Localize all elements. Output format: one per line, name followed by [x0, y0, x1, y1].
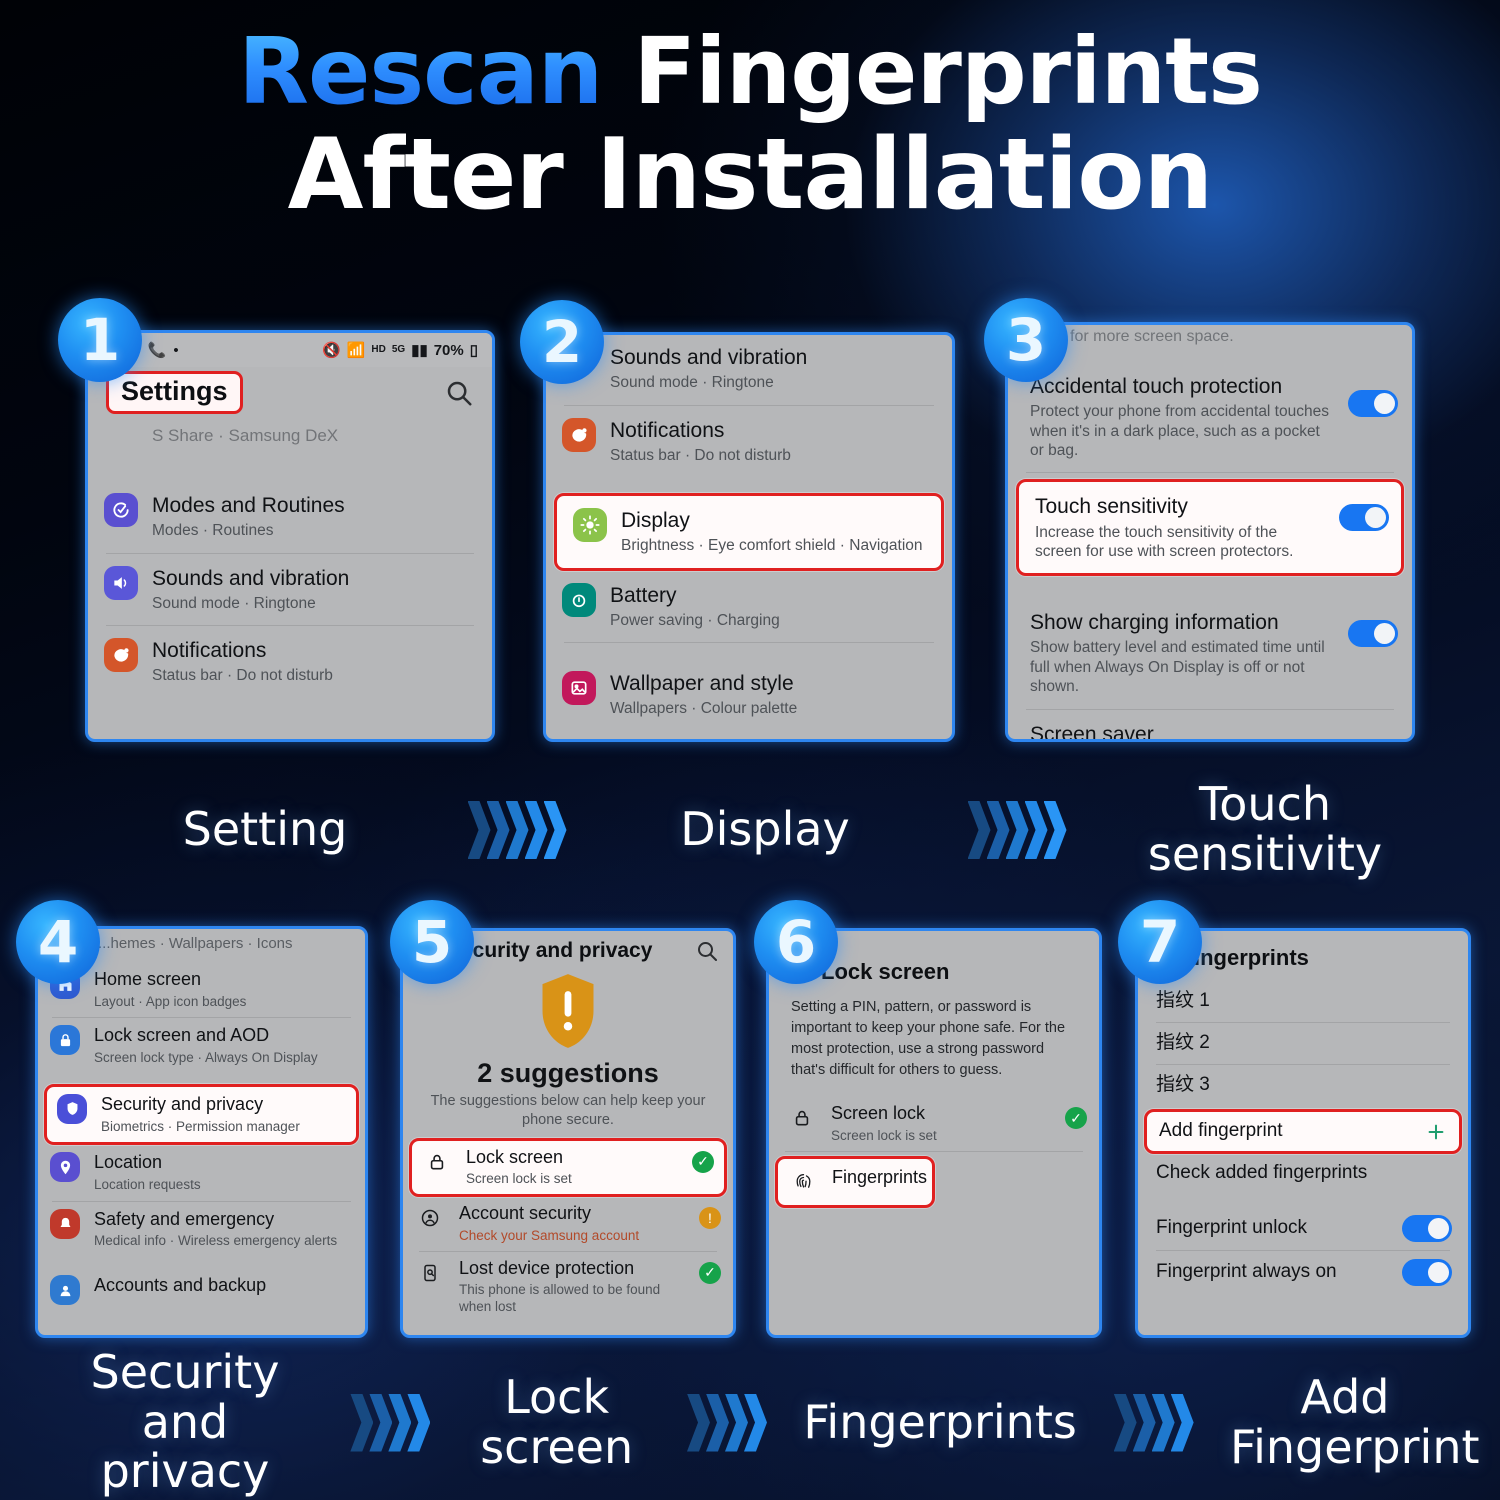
lock-screen-description: Setting a PIN, pattern, or password is i… [769, 991, 1099, 1081]
flow-arrow-4 [687, 1394, 763, 1452]
list-item-title: Home screen [94, 969, 353, 991]
list-item[interactable]: Account security Check your Samsung acco… [403, 1197, 733, 1250]
flow-arrow-1 [468, 801, 563, 859]
list-item-title: 指纹 2 [1156, 1032, 1450, 1055]
flow-label-lock-screen: Lockscreen [467, 1373, 647, 1472]
list-item-subtitle: Power saving · Charging [610, 611, 936, 630]
toggle-touch-sensitivity[interactable] [1339, 504, 1389, 531]
list-item-security-and-privacy-highlighted[interactable]: Security and privacy Biometrics · Permis… [44, 1084, 359, 1145]
padlock-outline-icon [787, 1103, 817, 1133]
battery-settings-icon [562, 583, 596, 617]
list-item-title: Lock screen [466, 1147, 678, 1169]
panel-step-1: 🖼 ⊗ 📞 • 🔇 📶 HD 5G ▮▮ 70% ▯ Settings [85, 330, 495, 742]
sound-icon [104, 566, 138, 600]
safety-icon [50, 1209, 80, 1239]
infographic-root: Rescan Fingerprints After Installation 1… [0, 0, 1500, 1500]
row-cut-off: S Share · Samsung DeX [88, 422, 492, 465]
toggle-show-charging-information[interactable] [1348, 620, 1398, 647]
list-item-subtitle: Increase the touch sensitivity of the sc… [1035, 523, 1325, 562]
notifications-icon [104, 638, 138, 672]
display-icon [573, 508, 607, 542]
list-item[interactable]: Notifications Status bar · Do not distur… [88, 626, 492, 698]
status-right-icons: 🔇 📶 HD 5G ▮▮ 70% ▯ [322, 343, 478, 358]
list-item-title: 指纹 3 [1156, 1074, 1450, 1097]
settings-title-highlight: Settings [106, 371, 243, 414]
call-icon: 📞 [148, 343, 167, 358]
list-item[interactable]: Check added fingerprints [1138, 1154, 1468, 1193]
cut-off-text: ...res for more screen space. [1008, 325, 1412, 346]
list-item[interactable]: Accounts and backup [38, 1271, 365, 1309]
list-item-subtitle: Biometrics · Permission manager [101, 1119, 346, 1136]
accounts-icon [50, 1275, 80, 1305]
list-item-subtitle: Screen lock is set [466, 1171, 678, 1188]
flow-arrow-5 [1114, 1394, 1190, 1452]
list-item[interactable]: Wallpaper and style Wallpapers · Colour … [546, 659, 952, 731]
list-item-title: Wallpaper and style [610, 671, 936, 696]
lock-icon [50, 1025, 80, 1055]
list-item-title: Fingerprint always on [1156, 1261, 1388, 1284]
list-item[interactable]: Fingerprint unlock [1138, 1207, 1468, 1250]
list-item-subtitle: Check your Samsung account [459, 1228, 685, 1245]
list-item-subtitle: Protect your phone from accidental touch… [1030, 402, 1334, 460]
list-item-title: Location [94, 1152, 353, 1174]
list-item-title: Add fingerprint [1159, 1120, 1411, 1143]
page-heading: ingerprints [1194, 945, 1309, 970]
dot-icon: • [173, 343, 178, 358]
panel-step-5: ecurity and privacy 2 suggestions The su… [400, 928, 736, 1338]
list-item-title: Notifications [610, 418, 936, 443]
signal-bars-icon: ▮▮ [411, 343, 428, 358]
hd-label: HD [371, 345, 385, 355]
list-item-title: Fingerprint unlock [1156, 1217, 1388, 1240]
step-badge-1: 1 [58, 298, 142, 382]
location-pin-icon [50, 1152, 80, 1182]
fingerprint-icon [788, 1167, 818, 1197]
list-item-touch-sensitivity-highlighted[interactable]: Touch sensitivity Increase the touch sen… [1016, 479, 1404, 576]
list-item-title: Show charging information [1030, 610, 1334, 635]
list-item-title: Lost device protection [459, 1258, 685, 1280]
search-icon[interactable] [444, 378, 474, 408]
settings-header: Settings [88, 367, 492, 422]
title-word-fingerprints: Fingerprints [633, 18, 1262, 125]
step-badge-3: 3 [984, 298, 1068, 382]
list-item[interactable]: 指纹 2 [1138, 1023, 1468, 1064]
list-item-title: Screen saver [1030, 722, 1396, 742]
signal-label: 5G [392, 345, 405, 355]
flow-arrow-2 [968, 801, 1063, 859]
list-item-subtitle: Show battery level and estimated time un… [1030, 638, 1334, 696]
suggestions-subtitle: The suggestions below can help keep your… [403, 1089, 733, 1130]
list-item[interactable]: Accidental touch protection Protect your… [1008, 362, 1412, 472]
suggestions-heading: 2 suggestions [403, 1058, 733, 1089]
toggle-fingerprint-unlock[interactable] [1402, 1215, 1452, 1242]
flow-row-top: Setting Display Touchsensitivity [120, 770, 1410, 890]
list-item-title: Accounts and backup [94, 1275, 353, 1297]
flow-arrow-3 [350, 1394, 426, 1452]
list-item-title: Account security [459, 1203, 685, 1225]
title-line-2: After Installation [0, 126, 1500, 224]
list-item[interactable]: Fingerprint always on [1138, 1251, 1468, 1294]
list-item[interactable]: Screen saver [1008, 710, 1412, 742]
flow-label-add-fingerprint: AddFingerprint [1230, 1373, 1460, 1472]
list-item-title: Display [621, 508, 925, 533]
list-item-title: Screen lock [831, 1103, 1051, 1125]
list-item-subtitle: Brightness · Eye comfort shield · Naviga… [621, 536, 925, 555]
list-item-title: Battery [610, 583, 936, 608]
title-word-rescan: Rescan [238, 18, 602, 125]
status-badge-check: ✓ [699, 1262, 721, 1284]
flow-label-touch-sensitivity: Touchsensitivity [1120, 780, 1410, 879]
battery-icon: ▯ [470, 343, 478, 358]
list-item-title: Accidental touch protection [1030, 374, 1334, 399]
page-heading: Lock screen [821, 959, 949, 985]
step-badge-7: 7 [1118, 900, 1202, 984]
list-item-title: Notifications [152, 638, 476, 663]
list-item-title: Check added fingerprints [1156, 1162, 1450, 1185]
list-item-add-fingerprint-highlighted[interactable]: Add fingerprint [1144, 1109, 1462, 1154]
panel-step-7: ingerprints 指纹 1 指纹 2 指纹 3 Add fingerpri… [1135, 928, 1471, 1338]
list-item[interactable]: Lost device protection This phone is all… [403, 1252, 733, 1322]
step-badge-2: 2 [520, 300, 604, 384]
notifications-icon [562, 418, 596, 452]
list-item[interactable]: 指纹 3 [1138, 1065, 1468, 1106]
list-item-title: Sounds and vibration [152, 566, 476, 591]
warning-shield-icon [534, 971, 602, 1051]
wifi-icon: 📶 [347, 343, 366, 358]
status-badge-warning: ! [699, 1207, 721, 1229]
battery-percent: 70% [434, 343, 464, 358]
padlock-outline-icon [422, 1147, 452, 1177]
flow-row-bottom: Securityand privacy Lockscreen Fingerpri… [60, 1360, 1460, 1485]
list-item-title: Lock screen and AOD [94, 1025, 353, 1047]
list-item-subtitle: Medical info · Wireless emergency alerts [94, 1233, 353, 1250]
list-item-title: Safety and emergency [94, 1209, 353, 1231]
list-item-subtitle: Status bar · Do not disturb [610, 446, 936, 465]
step-badge-4: 4 [16, 900, 100, 984]
find-device-icon [415, 1258, 445, 1288]
list-item[interactable]: Show charging information Show battery l… [1008, 598, 1412, 708]
flow-label-security-and-privacy: Securityand privacy [60, 1348, 310, 1497]
list-item[interactable]: Sounds and vibration Sound mode · Ringto… [88, 554, 492, 626]
modes-icon [104, 493, 138, 527]
divider [785, 1151, 1083, 1152]
list-item-lock-screen-highlighted[interactable]: Lock screen Screen lock is set ✓ [409, 1138, 727, 1197]
list-item-subtitle: Modes · Routines [152, 521, 476, 540]
list-item-subtitle: Screen lock type · Always On Display [94, 1050, 353, 1067]
list-item[interactable]: Location Location requests [38, 1145, 365, 1200]
list-item-subtitle: Location requests [94, 1177, 353, 1194]
list-item[interactable]: Notifications Status bar · Do not distur… [546, 406, 952, 478]
flow-label-setting: Setting [120, 805, 410, 855]
page-title: Rescan Fingerprints After Installation [0, 26, 1500, 224]
list-item-title: 指纹 1 [1156, 990, 1450, 1013]
list-item-title: Fingerprints [832, 1167, 922, 1189]
list-item-fingerprints-highlighted[interactable]: Fingerprints [775, 1156, 935, 1208]
panel-step-6: Lock screen Setting a PIN, pattern, or p… [766, 928, 1102, 1338]
list-item-title: Security and privacy [101, 1094, 346, 1116]
toggle-fingerprint-always-on[interactable] [1402, 1259, 1452, 1286]
list-item-title: Sounds and vibration [610, 345, 936, 370]
status-badge-check: ✓ [1065, 1107, 1087, 1129]
list-item[interactable]: Screen lock Screen lock is set ✓ [769, 1097, 1099, 1150]
cut-row-subtitle: S Share · Samsung DeX [152, 425, 476, 446]
list-item-subtitle: Wallpapers · Colour palette [610, 699, 936, 718]
status-badge-check: ✓ [692, 1151, 714, 1173]
page-heading: Settings [121, 376, 228, 406]
list-item-subtitle: Sound mode · Ringtone [610, 373, 936, 392]
list-item-subtitle: This phone is allowed to be found when l… [459, 1282, 685, 1316]
list-item[interactable]: Lock screen and AOD Screen lock type · A… [38, 1018, 365, 1073]
step-badge-5: 5 [390, 900, 474, 984]
list-item[interactable]: Modes and Routines Modes · Routines [88, 481, 492, 553]
list-item-title: Touch sensitivity [1035, 494, 1325, 519]
list-item-title: Modes and Routines [152, 493, 476, 518]
page-heading: ecurity and privacy [461, 939, 652, 963]
step-badge-6: 6 [754, 900, 838, 984]
list-item-subtitle: Sound mode · Ringtone [152, 594, 476, 613]
list-item[interactable]: Sounds and vibration Sound mode · Ringto… [546, 335, 952, 405]
list-item-display-highlighted[interactable]: Display Brightness · Eye comfort shield … [554, 493, 944, 571]
panel-step-4: ...hemes · Wallpapers · Icons Home scree… [35, 926, 368, 1338]
list-item[interactable]: 指纹 1 [1138, 981, 1468, 1022]
flow-label-fingerprints: Fingerprints [803, 1398, 1073, 1448]
search-icon[interactable] [695, 939, 719, 963]
list-item-subtitle: Layout · App icon badges [94, 994, 353, 1011]
panel-step-2: Sounds and vibration Sound mode · Ringto… [543, 332, 955, 742]
title-line-1: Rescan Fingerprints [0, 26, 1500, 118]
plus-icon[interactable] [1425, 1121, 1447, 1143]
list-item-subtitle: Status bar · Do not disturb [152, 666, 476, 685]
list-item-subtitle: Screen lock is set [831, 1128, 1051, 1145]
status-bar: 🖼 ⊗ 📞 • 🔇 📶 HD 5G ▮▮ 70% ▯ [88, 333, 492, 367]
shield-icon [57, 1094, 87, 1124]
mute-icon: 🔇 [322, 343, 341, 358]
account-circle-icon [415, 1203, 445, 1233]
flow-label-display: Display [620, 805, 910, 855]
suggestions-hero: 2 suggestions The suggestions below can … [403, 967, 733, 1130]
divider [1026, 472, 1394, 473]
panel-step-3: ...res for more screen space. Accidental… [1005, 322, 1415, 742]
toggle-accidental-touch-protection[interactable] [1348, 390, 1398, 417]
list-item[interactable]: Safety and emergency Medical info · Wire… [38, 1202, 365, 1257]
wallpaper-icon [562, 671, 596, 705]
list-item[interactable]: Battery Power saving · Charging [546, 571, 952, 643]
